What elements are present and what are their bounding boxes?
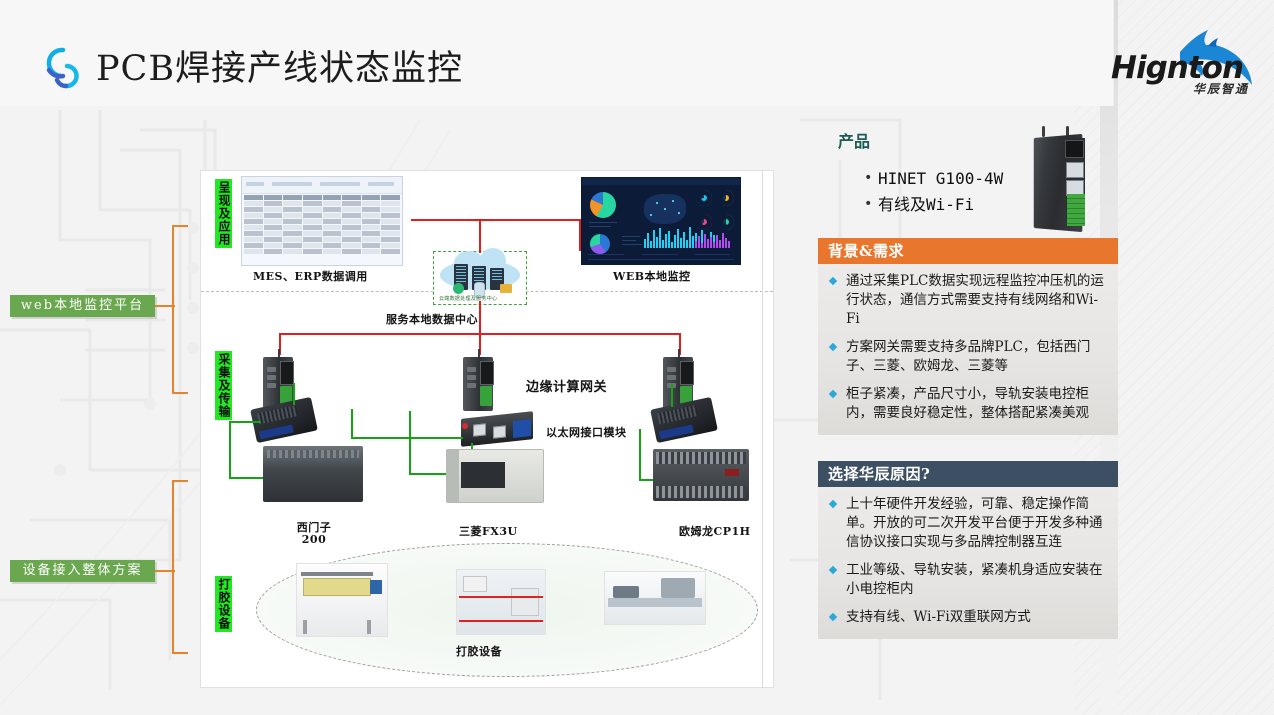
wire-red-cloud-up <box>479 219 481 253</box>
device-gateway-center <box>463 353 497 411</box>
label-plc-omron: 欧姆龙CP1H <box>679 523 751 539</box>
panel-title-background: 背景&需求 <box>818 238 1118 264</box>
web-dashboard-screenshot <box>581 177 741 265</box>
device-ethernet-module <box>461 411 533 445</box>
wire-green-9 <box>409 411 411 475</box>
bullet-why-3: 支持有线、Wi-Fi双重联网方式 <box>828 608 1108 627</box>
wire-green-11 <box>639 429 641 481</box>
mes-erp-screenshot <box>241 176 403 266</box>
diagram-right-rule <box>762 171 763 687</box>
device-connector-left <box>250 397 318 443</box>
caption-mes-erp: MES、ERP数据调用 <box>253 268 368 284</box>
bullet-why-2: 工业等级、导轨安装，紧凑机身适应安装在小电控柜内 <box>828 561 1108 599</box>
bullet-bg-2: 方案网关需要支持多品牌PLC，包括西门子、三菱、欧姆龙、三菱等 <box>828 338 1108 376</box>
architecture-diagram: 呈现及应用 采集及传输 打胶设备 <box>200 170 774 688</box>
device-connector-right <box>650 397 718 443</box>
cloud-caption: 云端数据处理及服务中心 <box>439 295 497 302</box>
brand-chinese-name: 华辰智通 <box>1193 80 1249 97</box>
page-title: PCB焊接产线状态监控 <box>96 40 463 91</box>
company-brand-logo: Hignton 华辰智通 <box>1108 22 1258 102</box>
equipment-photo-3 <box>604 571 706 625</box>
bracket-upper <box>172 225 188 394</box>
bullet-bg-3: 柜子紧凑，产品尺寸小，导轨安装电控柜内，需要良好稳定性，整体搭配紧凑美观 <box>828 385 1108 423</box>
wire-red-dash-down <box>579 219 581 251</box>
wire-red-top <box>411 219 581 221</box>
wire-green-2 <box>231 421 261 423</box>
plc-omron-cp1h <box>653 449 749 501</box>
wire-green-6 <box>351 437 463 439</box>
slide-header: PCB焊接产线状态监控 <box>0 0 1113 106</box>
plc-siemens-200 <box>263 446 363 502</box>
slide-root: PCB焊接产线状态监控 Hignton 华辰智通 web本地监控平台 设备接入整… <box>0 0 1274 715</box>
bracket-lower <box>172 480 188 654</box>
wire-green-10 <box>671 383 673 407</box>
wire-green-4 <box>229 477 263 479</box>
sidebar-tag-web-platform[interactable]: web本地监控平台 <box>10 295 155 317</box>
caption-web-monitor: WEB本地监控 <box>613 268 691 284</box>
vertical-tag-collection: 采集及传输 <box>215 351 232 420</box>
caption-edge-gateway: 边缘计算网关 <box>526 376 607 395</box>
caption-glue-equipment: 打胶设备 <box>456 643 502 659</box>
wire-green-3 <box>229 421 231 479</box>
wire-red-cloud-down <box>479 301 481 333</box>
panel-body-background: 通过采集PLC数据实现远程监控冲压机的运行状态，通信方式需要支持有线网络和Wi-… <box>818 264 1118 435</box>
bracket-stem-lower <box>155 570 175 572</box>
wire-green-1 <box>293 383 295 405</box>
bullet-why-1: 上十年硬件开发经验，可靠、稳定操作简单。开放的可二次开发平台便于开发多种通信协议… <box>828 495 1108 552</box>
vertical-tag-presentation: 呈现及应用 <box>215 179 232 248</box>
product-device-image <box>1026 128 1088 232</box>
caption-ethernet-module: 以太网接口模块 <box>546 424 627 440</box>
label-plc-mitsubishi: 三菱FX3U <box>459 523 518 539</box>
wire-green-5 <box>351 409 353 439</box>
panel-title-why: 选择华辰原因? <box>818 461 1118 487</box>
panel-why-huachen: 选择华辰原因? 上十年硬件开发经验，可靠、稳定操作简单。开放的可二次开发平台便于… <box>818 461 1118 639</box>
vertical-tag-glue-equipment: 打胶设备 <box>215 576 232 632</box>
plc-mitsubishi-fx3u <box>446 449 544 503</box>
cloud-data-center-icon: 云端数据处理及服务中心 <box>433 251 527 305</box>
bullet-bg-1: 通过采集PLC数据实现远程监控冲压机的运行状态，通信方式需要支持有线网络和Wi-… <box>828 272 1108 329</box>
sidebar-tag-device-access[interactable]: 设备接入整体方案 <box>10 560 155 582</box>
caption-data-center: 服务本地数据中心 <box>386 311 478 327</box>
product-heading: 产品 <box>838 128 870 152</box>
panel-body-why: 上十年硬件开发经验，可靠、稳定操作简单。开放的可二次开发平台便于开发多种通信协议… <box>818 487 1118 639</box>
equipment-photo-1 <box>296 563 388 637</box>
equipment-photo-2 <box>456 569 546 635</box>
label-plc-siemens-model: 200 <box>286 533 342 546</box>
panel-background-requirements: 背景&需求 通过采集PLC数据实现远程监控冲压机的运行状态，通信方式需要支持有线… <box>818 238 1118 435</box>
app-logo-icon <box>33 42 91 94</box>
bracket-stem-upper <box>155 305 175 307</box>
